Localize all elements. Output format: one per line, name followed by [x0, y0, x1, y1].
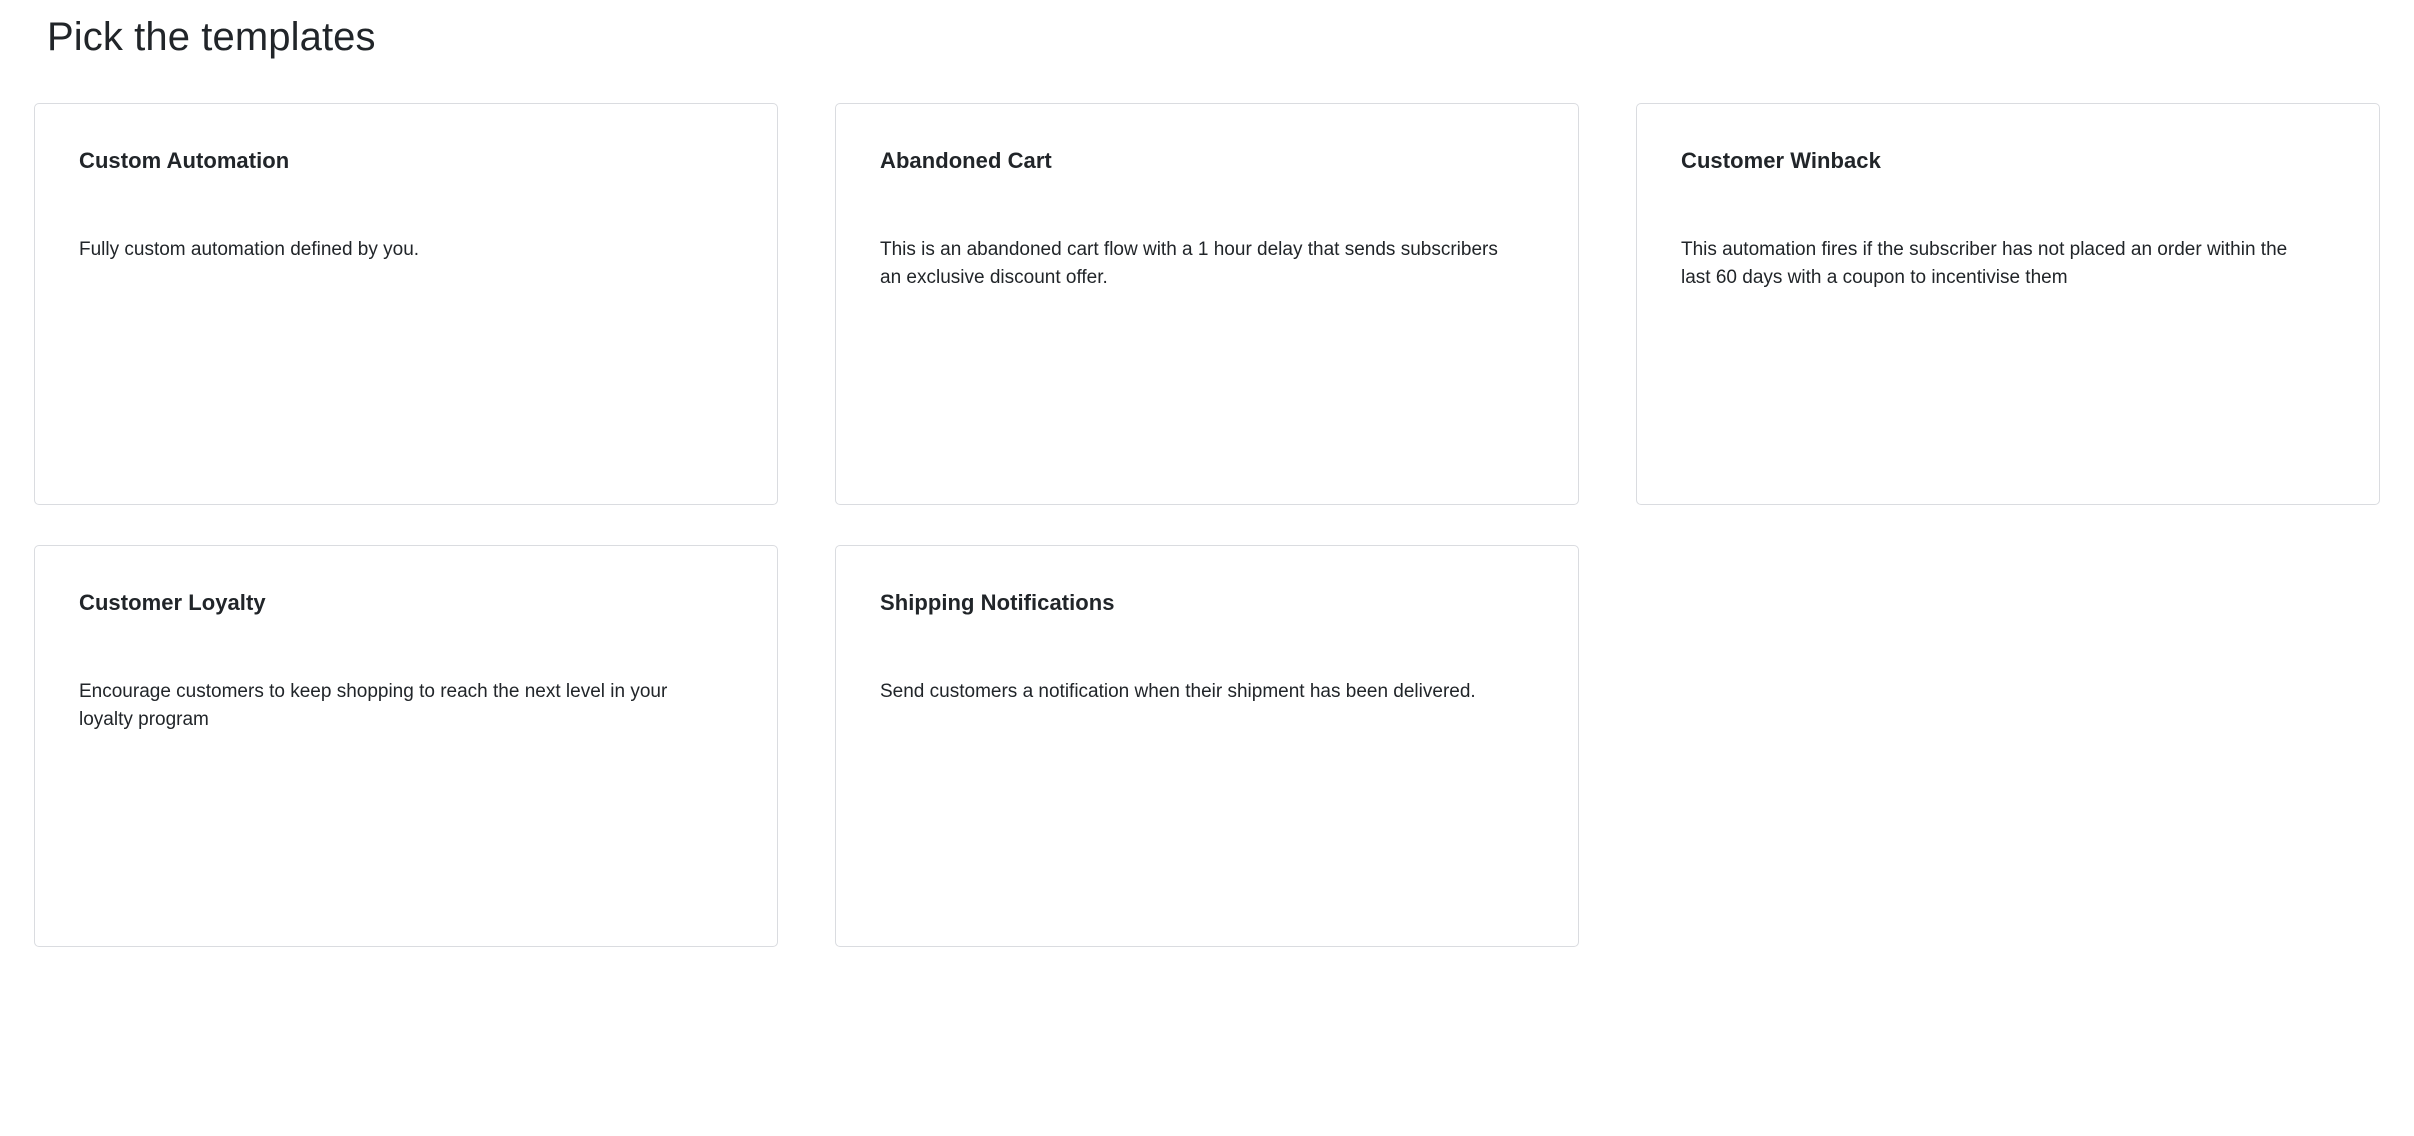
template-card-title: Shipping Notifications — [880, 590, 1534, 616]
template-card-shipping-notifications[interactable]: Shipping Notifications Send customers a … — [835, 545, 1579, 947]
template-card-title: Abandoned Cart — [880, 148, 1534, 174]
template-card-description: This automation fires if the subscriber … — [1681, 174, 2311, 291]
template-grid: Custom Automation Fully custom automatio… — [0, 61, 2414, 947]
template-card-title: Custom Automation — [79, 148, 733, 174]
template-card-customer-loyalty[interactable]: Customer Loyalty Encourage customers to … — [34, 545, 778, 947]
template-card-title: Customer Loyalty — [79, 590, 733, 616]
template-card-description: This is an abandoned cart flow with a 1 … — [880, 174, 1510, 291]
template-card-custom-automation[interactable]: Custom Automation Fully custom automatio… — [34, 103, 778, 505]
template-card-customer-winback[interactable]: Customer Winback This automation fires i… — [1636, 103, 2380, 505]
template-card-title: Customer Winback — [1681, 148, 2335, 174]
template-card-description: Fully custom automation defined by you. — [79, 174, 709, 264]
template-card-abandoned-cart[interactable]: Abandoned Cart This is an abandoned cart… — [835, 103, 1579, 505]
template-card-description: Send customers a notification when their… — [880, 616, 1510, 706]
templates-page: Pick the templates Custom Automation Ful… — [0, 0, 2414, 1136]
page-title: Pick the templates — [0, 0, 2414, 61]
template-card-description: Encourage customers to keep shopping to … — [79, 616, 709, 733]
